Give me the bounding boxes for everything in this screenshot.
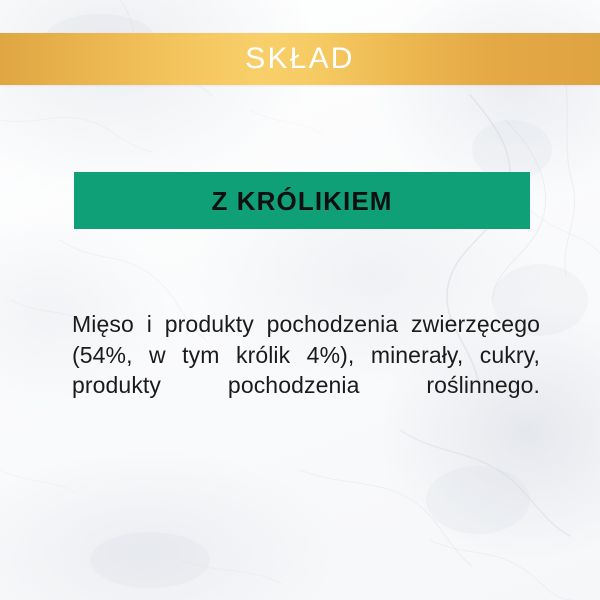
ingredients-paragraph: Mięso i produkty pochodzenia zwierzęcego…: [72, 309, 540, 431]
marble-vein-texture: [0, 0, 600, 600]
variant-headline-band: Z KRÓLIKIEM: [74, 172, 530, 229]
variant-headline-title: Z KRÓLIKIEM: [211, 188, 392, 214]
section-banner: SKŁAD: [0, 33, 600, 85]
section-banner-title: SKŁAD: [245, 44, 354, 74]
product-info-panel: SKŁAD Z KRÓLIKIEM Mięso i produkty pocho…: [0, 0, 600, 600]
